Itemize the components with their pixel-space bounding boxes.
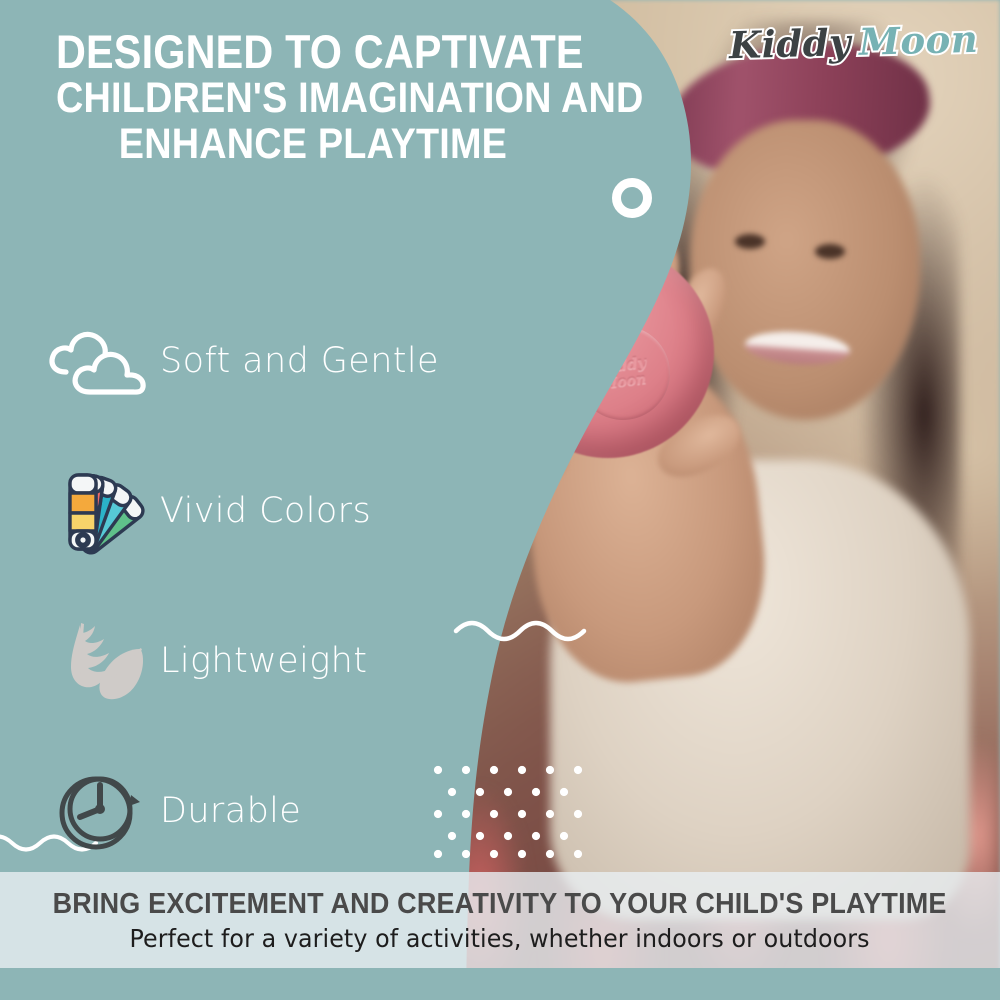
feature-label: Soft and Gentle xyxy=(160,341,439,381)
wavy-line-icon xyxy=(452,612,588,646)
color-swatch-fan-icon xyxy=(40,463,160,559)
banner-title: Bring excitement and creativity to your … xyxy=(53,888,947,921)
clock-arrow-icon xyxy=(40,761,160,861)
brand-logo: KiddyMoon xyxy=(728,17,978,68)
feature-label: Durable xyxy=(160,791,301,831)
child-eye-left xyxy=(735,234,765,249)
brand-logo-kiddy: Kiddy xyxy=(728,20,851,67)
feature-item-durable: Durable xyxy=(40,736,470,886)
footer-teal-strip xyxy=(0,968,1000,1000)
headline-line-1: Designed to Captivate xyxy=(56,28,531,76)
bottom-banner: Bring excitement and creativity to your … xyxy=(0,872,1000,968)
headline-line-3: Enhance Playtime xyxy=(56,122,570,168)
feature-item-soft-and-gentle: Soft and Gentle xyxy=(40,286,470,436)
child-face xyxy=(690,120,920,420)
page-title: Designed to Captivate Children's Imagina… xyxy=(56,28,531,168)
feature-label: Vivid Colors xyxy=(160,491,371,531)
feature-item-vivid-colors: Vivid Colors xyxy=(40,436,470,586)
white-ring-icon xyxy=(612,178,652,218)
clouds-icon xyxy=(40,322,160,400)
feature-label: Lightweight xyxy=(160,641,367,681)
banner-subtitle: Perfect for a variety of activities, whe… xyxy=(130,924,870,953)
headline-line-2: Children's Imagination and xyxy=(56,76,531,122)
brand-logo-moon: Moon xyxy=(858,17,978,64)
child-eye-right xyxy=(815,244,845,259)
feather-icon xyxy=(40,615,160,707)
feature-item-lightweight: Lightweight xyxy=(40,586,470,736)
product-infographic-poster: Kiddy Moon Desi xyxy=(0,0,1000,1000)
feature-list: Soft and Gentle xyxy=(40,286,470,886)
